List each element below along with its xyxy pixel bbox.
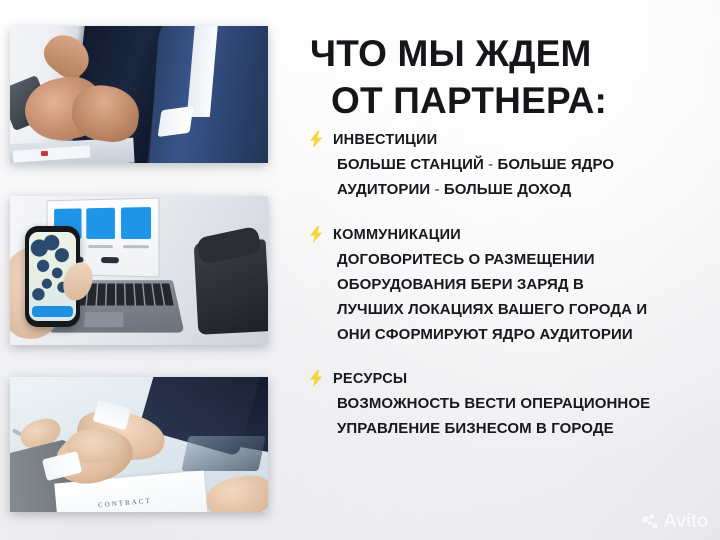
s1l1-post: БОЛЬШЕ ЯДРО: [498, 156, 615, 173]
photo-1-artwork: [10, 26, 268, 163]
photo-3-artwork: CONTRACT: [10, 377, 268, 512]
section-3-line-2: УПРАВЛЕНИЕ БИЗНЕСОМ В ГОРОДЕ: [337, 416, 710, 441]
content-column: ЧТО МЫ ЖДЕМ ОТ ПАРТНЕРА: ИНВЕСТИЦИИ БОЛЬ…: [310, 0, 710, 540]
section-1-header: ИНВЕСТИЦИИ: [310, 131, 710, 148]
s1l2-post: БОЛЬШЕ ДОХОД: [444, 181, 571, 198]
section-2-line-3: ЛУЧШИХ ЛОКАЦИЯХ ВАШЕГО ГОРОДА И: [337, 297, 710, 322]
section-2-line-2: ОБОРУДОВАНИЯ БЕРИ ЗАРЯД В: [337, 272, 710, 297]
businessmen-meeting-photo: [10, 26, 268, 163]
section-2-title: КОММУНИКАЦИИ: [333, 227, 461, 243]
s1l2-sep: -: [430, 181, 444, 198]
title-line-2: ОТ ПАРТНЕРА:: [310, 77, 710, 124]
lightning-bolt-icon: [310, 226, 326, 243]
avito-dots-icon: [642, 514, 659, 531]
section-2-body: ДОГОВОРИТЕСЬ О РАЗМЕЩЕНИИ ОБОРУДОВАНИЯ Б…: [310, 247, 710, 347]
section-3-line-1: ВОЗМОЖНОСТЬ ВЕСТИ ОПЕРАЦИОННОЕ: [337, 391, 710, 416]
section-2-line-4: ОНИ СФОРМИРУЮТ ЯДРО АУДИТОРИИ: [337, 322, 710, 347]
photo-2-artwork: [10, 196, 268, 345]
section-1-line-1: БОЛЬШЕ СТАНЦИЙ - БОЛЬШЕ ЯДРО: [337, 152, 710, 177]
section-3-title: РЕСУРСЫ: [333, 371, 407, 387]
section-1-title: ИНВЕСТИЦИИ: [333, 132, 437, 148]
section-1-line-2: АУДИТОРИИ - БОЛЬШЕ ДОХОД: [337, 177, 710, 202]
lightning-bolt-icon: [310, 131, 326, 148]
s1l1-sep: -: [484, 156, 498, 173]
handshake-contract-photo: CONTRACT: [10, 377, 268, 512]
lightning-bolt-icon: [310, 370, 326, 387]
section-2-header: КОММУНИКАЦИИ: [310, 226, 710, 243]
phone-map-laptop-photo: [10, 196, 268, 345]
section-kommunikatsii: КОММУНИКАЦИИ ДОГОВОРИТЕСЬ О РАЗМЕЩЕНИИ О…: [310, 226, 710, 347]
title-line-1: ЧТО МЫ ЖДЕМ: [310, 30, 710, 77]
avito-brand-text: Avito: [663, 511, 708, 533]
section-3-body: ВОЗМОЖНОСТЬ ВЕСТИ ОПЕРАЦИОННОЕ УПРАВЛЕНИ…: [310, 391, 710, 441]
s1l2-pre: АУДИТОРИИ: [337, 181, 430, 198]
s1l1-pre: БОЛЬШЕ СТАНЦИЙ: [337, 156, 484, 173]
section-2-line-1: ДОГОВОРИТЕСЬ О РАЗМЕЩЕНИИ: [337, 247, 710, 272]
section-1-body: БОЛЬШЕ СТАНЦИЙ - БОЛЬШЕ ЯДРО АУДИТОРИИ -…: [310, 152, 710, 202]
section-resursy: РЕСУРСЫ ВОЗМОЖНОСТЬ ВЕСТИ ОПЕРАЦИОННОЕ У…: [310, 370, 710, 441]
section-investitsii: ИНВЕСТИЦИИ БОЛЬШЕ СТАНЦИЙ - БОЛЬШЕ ЯДРО …: [310, 131, 710, 202]
section-3-header: РЕСУРСЫ: [310, 370, 710, 387]
page-title: ЧТО МЫ ЖДЕМ ОТ ПАРТНЕРА:: [310, 30, 710, 124]
sections-list: ИНВЕСТИЦИИ БОЛЬШЕ СТАНЦИЙ - БОЛЬШЕ ЯДРО …: [310, 131, 710, 441]
avito-watermark: Avito: [642, 511, 708, 533]
